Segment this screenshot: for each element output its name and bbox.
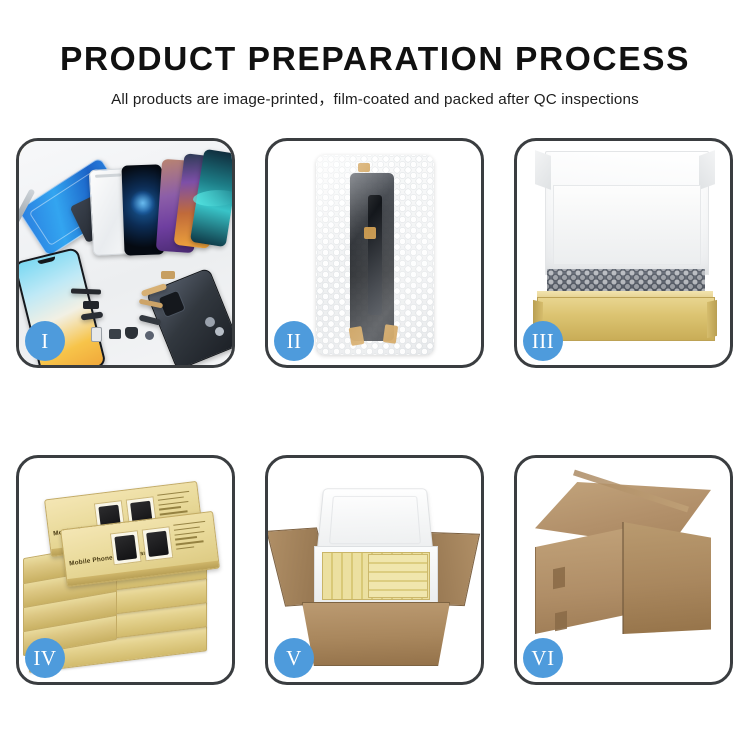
- small-component-6: [161, 271, 175, 279]
- step-badge-2: II: [274, 321, 314, 361]
- flex-cable-part-1: [71, 288, 101, 294]
- carton-tape-patch-2: [555, 611, 567, 632]
- foam-insert: [553, 185, 701, 265]
- process-step-4[interactable]: Mobile Phone Spare Parts Mobile Phone Sp…: [16, 455, 235, 685]
- process-step-5[interactable]: V: [265, 455, 484, 685]
- carton-right-face: [623, 522, 711, 634]
- carton-tape-patch-1: [553, 567, 565, 590]
- small-component-5: [83, 301, 99, 309]
- poster-header: PRODUCT PREPARATION PROCESS All products…: [0, 0, 750, 109]
- step-badge-5: V: [274, 638, 314, 678]
- poster-root: PRODUCT PREPARATION PROCESS All products…: [0, 0, 750, 750]
- yellow-boxes-inside-row2: [368, 554, 428, 598]
- box-lid-flap-left: [535, 150, 551, 190]
- page-subtitle: All products are image-printed，film-coat…: [0, 87, 750, 109]
- process-step-2[interactable]: II: [265, 138, 484, 368]
- step-badge-4: IV: [25, 638, 65, 678]
- box-window-2a: [110, 530, 142, 565]
- step-badge-6: VI: [523, 638, 563, 678]
- page-title: PRODUCT PREPARATION PROCESS: [0, 42, 750, 77]
- plastic-gloss-overlay: [316, 155, 434, 355]
- styrofoam-lid: [317, 488, 434, 553]
- phone-image-2a: [114, 535, 137, 561]
- carton-with-foam-box: [276, 470, 472, 668]
- box-base-side-right: [707, 300, 717, 338]
- box-lid-flap-right: [699, 150, 715, 190]
- sealed-shipping-carton: [527, 482, 723, 650]
- bubble-wrap-bag: [316, 155, 434, 355]
- process-step-6[interactable]: VI: [514, 455, 733, 685]
- box-base-kraft: [537, 297, 715, 341]
- box-window-2b: [142, 526, 174, 561]
- carton-left-face: [535, 528, 626, 634]
- small-component-3: [125, 327, 138, 339]
- process-step-1[interactable]: I: [16, 138, 235, 368]
- phone-image-2b: [146, 531, 169, 557]
- box-spec-lines-2: [173, 520, 213, 560]
- process-step-3[interactable]: III: [514, 138, 733, 368]
- small-component-4: [145, 331, 154, 340]
- small-component-2: [109, 329, 121, 339]
- screw-component-1: [205, 317, 215, 327]
- open-kraft-box: [533, 151, 717, 346]
- small-component-1: [91, 327, 102, 342]
- step-badge-1: I: [25, 321, 65, 361]
- carton-front-panel: [302, 602, 450, 666]
- step-badge-3: III: [523, 321, 563, 361]
- screw-component-2: [215, 327, 224, 336]
- carton-vertical-edge: [622, 522, 624, 634]
